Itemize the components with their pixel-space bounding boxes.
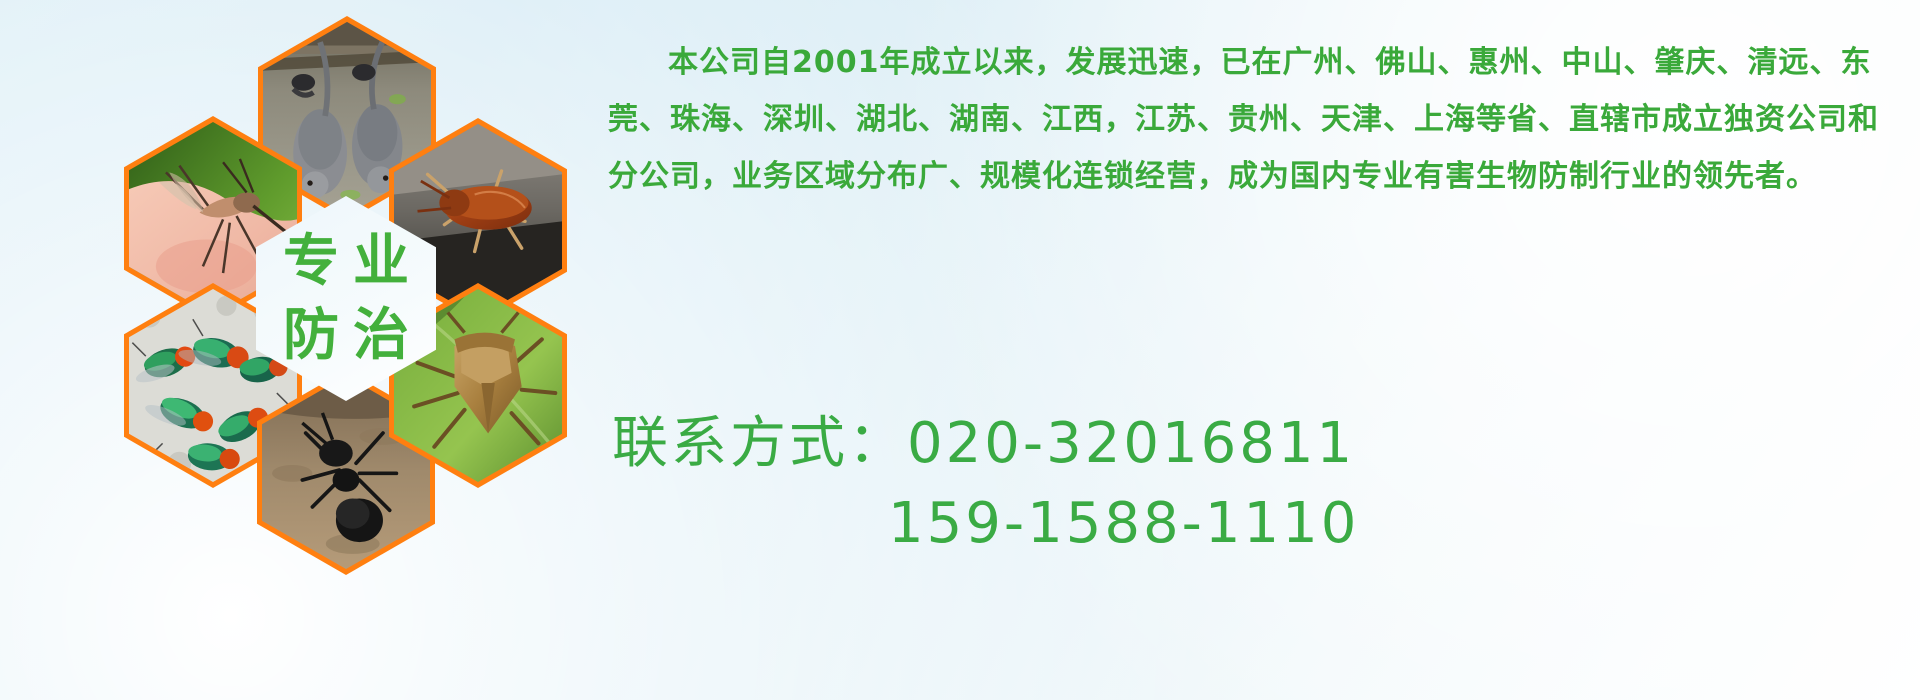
collage-title-line-2: 防治	[269, 299, 423, 373]
hexagon-photo-collage: 专业 防治	[0, 0, 620, 700]
collage-title-line-1: 专业	[269, 225, 423, 299]
contact-block: 联系方式：020-32016811 159-1588-1110	[612, 404, 1912, 564]
promotional-banner: 专业 防治 本公司自2001年成立以来，发展迅速，已在广州、佛山、惠州、中山、肇…	[0, 0, 1920, 700]
contact-line-secondary[interactable]: 159-1588-1110	[612, 484, 1912, 564]
intro-text-block: 本公司自2001年成立以来，发展迅速，已在广州、佛山、惠州、中山、肇庆、清远、东…	[608, 34, 1900, 205]
contact-line-primary[interactable]: 联系方式：020-32016811	[612, 404, 1912, 484]
company-intro-paragraph: 本公司自2001年成立以来，发展迅速，已在广州、佛山、惠州、中山、肇庆、清远、东…	[608, 34, 1900, 205]
